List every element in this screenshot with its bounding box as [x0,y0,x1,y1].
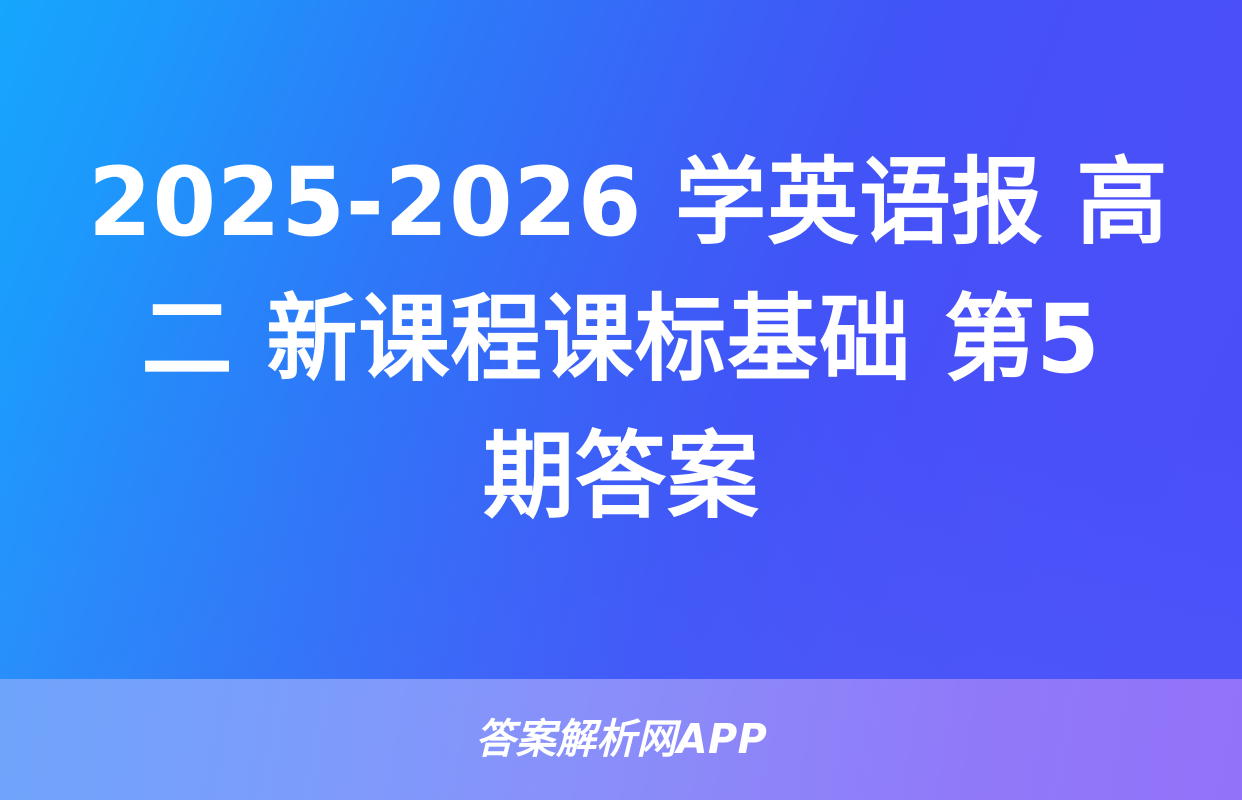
hero-gradient-panel: 2025-2026 学英语报 高 二 新课程课标基础 第5 期答案 [0,0,1242,680]
poster-container: 2025-2026 学英语报 高 二 新课程课标基础 第5 期答案 答案解析网A… [0,0,1242,800]
title-line-3: 期答案 [88,409,1154,546]
footer-band: 答案解析网APP [0,679,1242,800]
title-line-1: 2025-2026 学英语报 高 [88,135,1154,272]
page-title: 2025-2026 学英语报 高 二 新课程课标基础 第5 期答案 [66,135,1176,546]
title-line-2: 二 新课程课标基础 第5 [88,272,1154,409]
app-watermark-label: 答案解析网APP [475,719,767,760]
